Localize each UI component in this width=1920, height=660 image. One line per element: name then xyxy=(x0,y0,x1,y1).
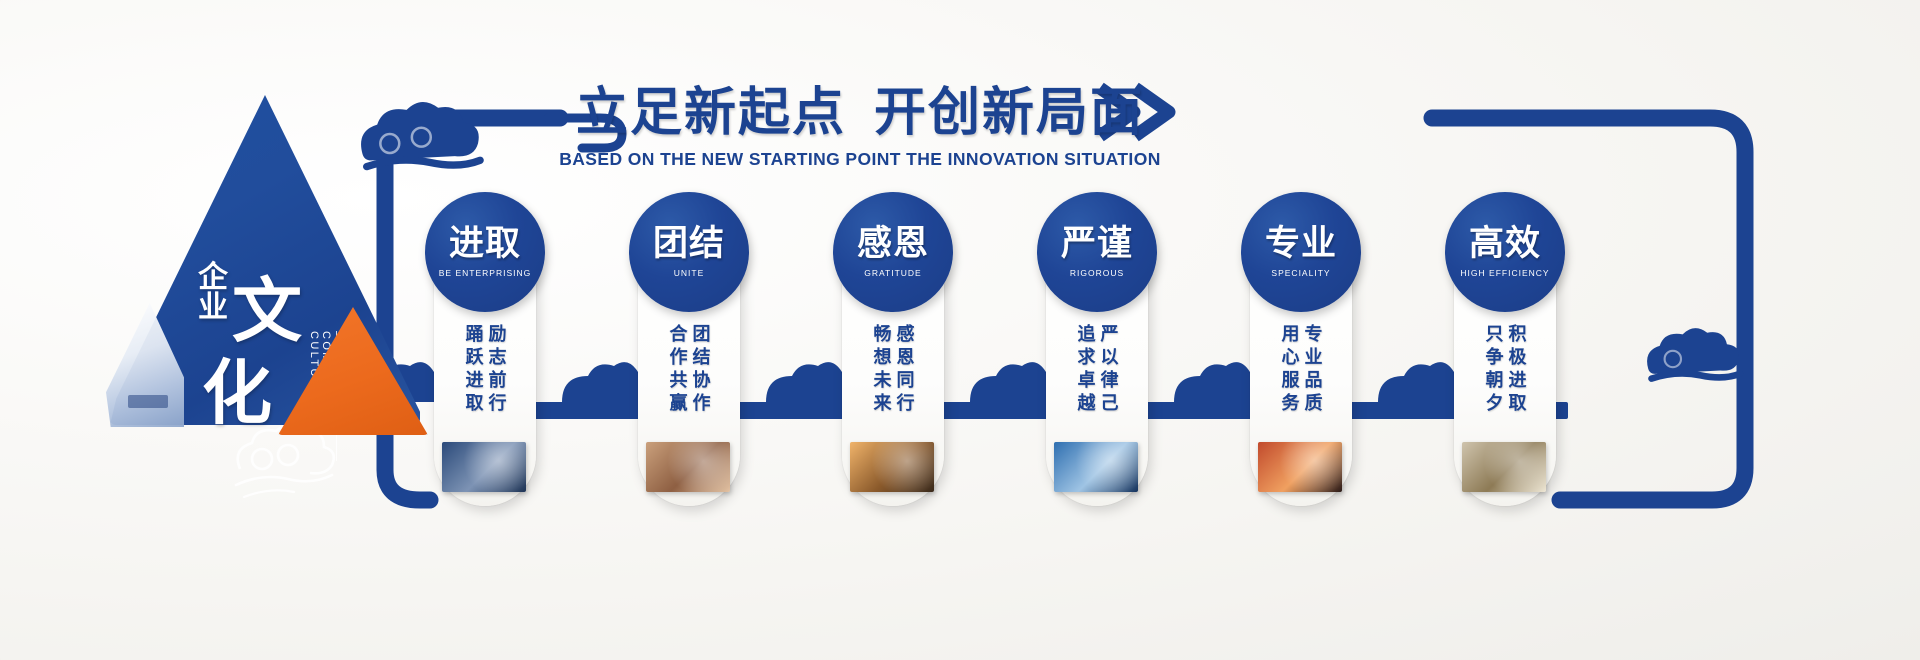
pill-slogan-right: 励志前行 xyxy=(488,324,506,442)
pill-vertical-slogan: 感恩同行畅想未来 xyxy=(842,324,944,442)
pill-title-en: UNITE xyxy=(674,268,705,278)
pill-slogan-right: 严以律己 xyxy=(1100,324,1118,442)
photo-eagle-flight xyxy=(1054,442,1138,492)
pill-slogan-left: 用心服务 xyxy=(1281,324,1299,442)
headline-english: BASED ON THE NEW STARTING POINT THE INNO… xyxy=(540,149,1180,170)
pill-slogan-right: 团结协作 xyxy=(692,324,710,442)
pill-badge-circle[interactable]: 专业SPECIALITY xyxy=(1241,192,1361,312)
logo-small-badge xyxy=(128,395,168,408)
pill-title-cn: 团结 xyxy=(653,226,725,261)
pill-badge-circle[interactable]: 高效HIGH EFFICIENCY xyxy=(1445,192,1565,312)
pill-panel-unite[interactable]: 团结UNITE团结协作合作共赢 xyxy=(638,196,740,506)
pill-badge-circle[interactable]: 进取BE ENTERPRISING xyxy=(425,192,545,312)
pill-title-en: GRATITUDE xyxy=(864,268,921,278)
pill-panel-gratitude[interactable]: 感恩GRATITUDE感恩同行畅想未来 xyxy=(842,196,944,506)
pill-title-cn: 进取 xyxy=(449,226,521,261)
pill-title-cn: 专业 xyxy=(1265,226,1337,261)
pill-slogan-left: 只争朝夕 xyxy=(1485,324,1503,442)
pill-slogan-right: 感恩同行 xyxy=(896,324,914,442)
pill-badge-circle[interactable]: 严谨RIGOROUS xyxy=(1037,192,1157,312)
pill-slogan-right: 积极进取 xyxy=(1508,324,1526,442)
pill-title-en: HIGH EFFICIENCY xyxy=(1460,268,1549,278)
photo-pocket-watch xyxy=(1462,442,1546,492)
pill-title-cn: 高效 xyxy=(1469,226,1541,261)
pill-vertical-slogan: 团结协作合作共赢 xyxy=(638,324,740,442)
pill-panel-rigorous[interactable]: 严谨RIGOROUS严以律己追求卓越 xyxy=(1046,196,1148,506)
logo-text-hua: 化 xyxy=(202,337,272,438)
chinese-cloud-motif-icon xyxy=(222,425,342,505)
pill-title-cn: 严谨 xyxy=(1061,226,1133,261)
pill-slogan-right: 专业品质 xyxy=(1304,324,1322,442)
pill-panel-speciality[interactable]: 专业SPECIALITY专业品质用心服务 xyxy=(1250,196,1352,506)
pill-panel-high-efficiency[interactable]: 高效HIGH EFFICIENCY积极进取只争朝夕 xyxy=(1454,196,1556,506)
pill-vertical-slogan: 严以律己追求卓越 xyxy=(1046,324,1148,442)
pill-badge-circle[interactable]: 感恩GRATITUDE xyxy=(833,192,953,312)
headline-cn-right: 开创新局面 xyxy=(874,85,1144,142)
pill-slogan-left: 畅想未来 xyxy=(873,324,891,442)
pill-title-en: BE ENTERPRISING xyxy=(439,268,531,278)
logo-text-qiye: 企业 xyxy=(198,263,226,323)
photo-helping-hand-sunset xyxy=(850,442,934,492)
photo-climbing-rope xyxy=(442,442,526,492)
pill-slogan-left: 合作共赢 xyxy=(669,324,687,442)
pill-vertical-slogan: 专业品质用心服务 xyxy=(1250,324,1352,442)
headline-cn-left: 立足新起点 xyxy=(576,85,846,142)
pill-slogan-left: 追求卓越 xyxy=(1077,324,1095,442)
pill-title-cn: 感恩 xyxy=(857,226,929,261)
pill-panel-be-enterprising[interactable]: 进取BE ENTERPRISING励志前行踊跃进取 xyxy=(434,196,536,506)
chinese-cloud-motif-icon xyxy=(1647,328,1740,378)
headline-chinese: 立足新起点开创新局面 xyxy=(540,70,1180,145)
header-block: 立足新起点开创新局面 BASED ON THE NEW STARTING POI… xyxy=(540,70,1180,170)
pill-title-en: SPECIALITY xyxy=(1271,268,1330,278)
company-culture-logo: 企业 文 化 COMPANY CULTURE xyxy=(110,95,450,495)
pill-badge-circle[interactable]: 团结UNITE xyxy=(629,192,749,312)
pill-vertical-slogan: 励志前行踊跃进取 xyxy=(434,324,536,442)
pill-title-en: RIGOROUS xyxy=(1070,268,1124,278)
photo-sunrise-runner xyxy=(1258,442,1342,492)
pill-vertical-slogan: 积极进取只争朝夕 xyxy=(1454,324,1556,442)
pill-slogan-left: 踊跃进取 xyxy=(465,324,483,442)
photo-handshake xyxy=(646,442,730,492)
